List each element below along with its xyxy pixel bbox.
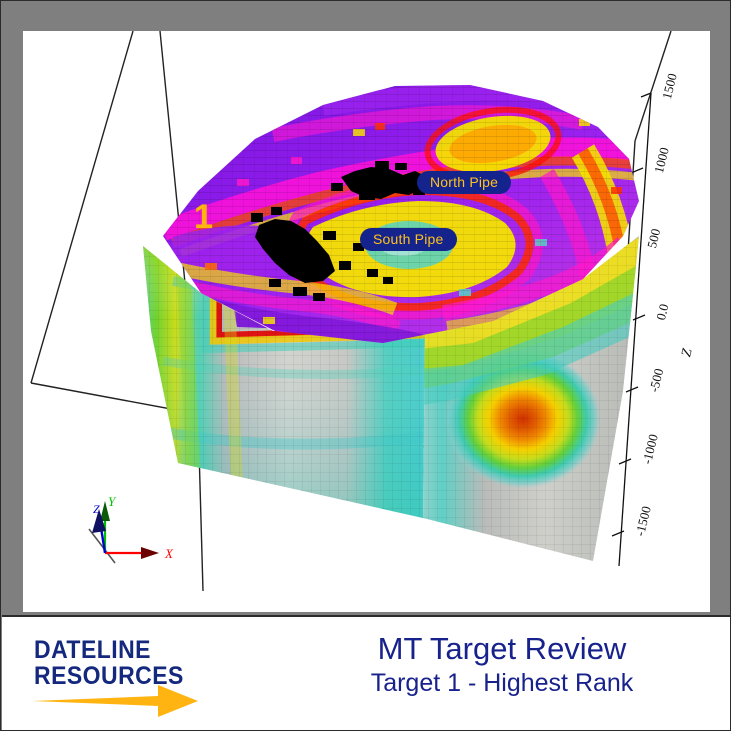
logo-line-dateline: DATELINE bbox=[34, 637, 264, 663]
triad-y-label: Y bbox=[108, 494, 117, 509]
3d-model-viewport[interactable]: North Pipe South Pipe 1 1500 1000 500 0.… bbox=[23, 31, 710, 612]
target-number-label: 1 bbox=[194, 200, 213, 234]
label-south-pipe[interactable]: South Pipe bbox=[360, 228, 457, 251]
page-title: MT Target Review bbox=[302, 631, 702, 668]
page-subtitle: Target 1 - Highest Rank bbox=[302, 668, 702, 699]
triad-x-label: X bbox=[164, 546, 174, 561]
footer-bar: DATELINE RESOURCES MT Target Review Targ… bbox=[2, 615, 731, 731]
triad-z-label: Z bbox=[93, 502, 100, 516]
title-block: MT Target Review Target 1 - Highest Rank bbox=[302, 631, 702, 699]
figure-page: North Pipe South Pipe 1 1500 1000 500 0.… bbox=[0, 0, 731, 731]
gold-arrow-icon bbox=[30, 679, 225, 719]
orientation-triad: X Y Z bbox=[75, 481, 185, 571]
label-north-pipe[interactable]: North Pipe bbox=[417, 171, 511, 194]
triad-x-arrow bbox=[141, 547, 159, 559]
